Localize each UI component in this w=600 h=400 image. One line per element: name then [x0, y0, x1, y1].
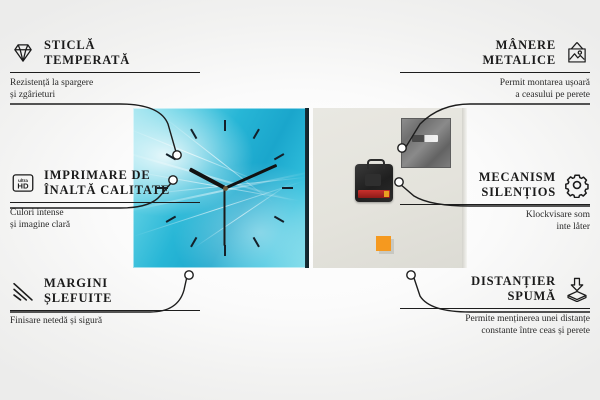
hanger-slot [412, 135, 438, 142]
clock-minute-hand [224, 164, 276, 190]
clock-tick [253, 237, 260, 248]
clock-center-cap [223, 186, 228, 191]
clock-tick [253, 129, 260, 140]
mechanism-shaft [365, 174, 381, 186]
callout-title: IMPRIMARE DE ÎNALTĂ CALITATE [44, 168, 170, 198]
clock-tick [190, 237, 197, 248]
callout-subtitle: Permite menținerea unei distanțe constan… [400, 313, 590, 339]
svg-text:HD: HD [17, 181, 29, 190]
callout-title: DISTANȚIER SPUMĂ [471, 274, 556, 304]
clock-second-hand [224, 188, 226, 246]
callout-tempered-glass: STICLĂ TEMPERATĂ Rezistență la spargere … [10, 38, 200, 102]
callout-subtitle: Permit montarea ușoară a ceasului pe per… [400, 77, 590, 103]
callout-title: STICLĂ TEMPERATĂ [44, 38, 130, 68]
foam-spacer-pad [376, 236, 391, 251]
callout-foam-spacer: DISTANȚIER SPUMĂ Permite menținerea unei… [400, 274, 590, 338]
battery [358, 190, 390, 198]
gear-icon [564, 172, 590, 198]
callout-subtitle: Rezistență la spargere și zgârieturi [10, 77, 200, 103]
callout-subtitle: Culori intense și imagine clară [10, 207, 200, 233]
hatched-edge-icon [10, 278, 36, 304]
callout-silent-mechanism: MECANISM SILENȚIOS Klockvisare som inte … [400, 170, 590, 234]
hanging-picture-frame-icon [564, 40, 590, 66]
callout-metal-handles: MÂNERE METALICE Permit montarea ușoară a… [400, 38, 590, 102]
clock-tick [190, 129, 197, 140]
clock-tick [282, 187, 293, 189]
metal-hanger-plate [401, 118, 451, 168]
infographic-canvas: STICLĂ TEMPERATĂ Rezistență la spargere … [0, 0, 600, 400]
arrow-onto-pad-icon [564, 276, 590, 302]
callout-hd-print: ultra HD IMPRIMARE DE ÎNALTĂ CALITATE Cu… [10, 168, 200, 232]
callout-subtitle: Klockvisare som inte låter [400, 209, 590, 235]
mechanism-hanger-loop [367, 159, 385, 169]
clock-glass-edge [305, 108, 309, 268]
callout-title: MARGINI ȘLEFUITE [44, 276, 112, 306]
callout-divider [10, 310, 200, 311]
callout-divider [400, 72, 590, 73]
ultra-hd-badge-icon: ultra HD [10, 170, 36, 196]
clock-tick [166, 153, 177, 160]
clock-tick [224, 120, 226, 131]
callout-divider [400, 204, 590, 205]
clock-tick [274, 153, 285, 160]
callout-title: MECANISM SILENȚIOS [479, 170, 556, 200]
diamond-icon [10, 40, 36, 66]
callout-divider [10, 72, 200, 73]
callout-title: MÂNERE METALICE [482, 38, 556, 68]
callout-polished-edges: MARGINI ȘLEFUITE Finisare netedă și sigu… [10, 276, 200, 327]
callout-subtitle: Finisare netedă și sigură [10, 315, 200, 328]
clock-tick [224, 245, 226, 256]
clock-tick [274, 216, 285, 223]
callout-divider [400, 308, 590, 309]
clock-mechanism [355, 164, 393, 202]
callout-divider [10, 202, 200, 203]
